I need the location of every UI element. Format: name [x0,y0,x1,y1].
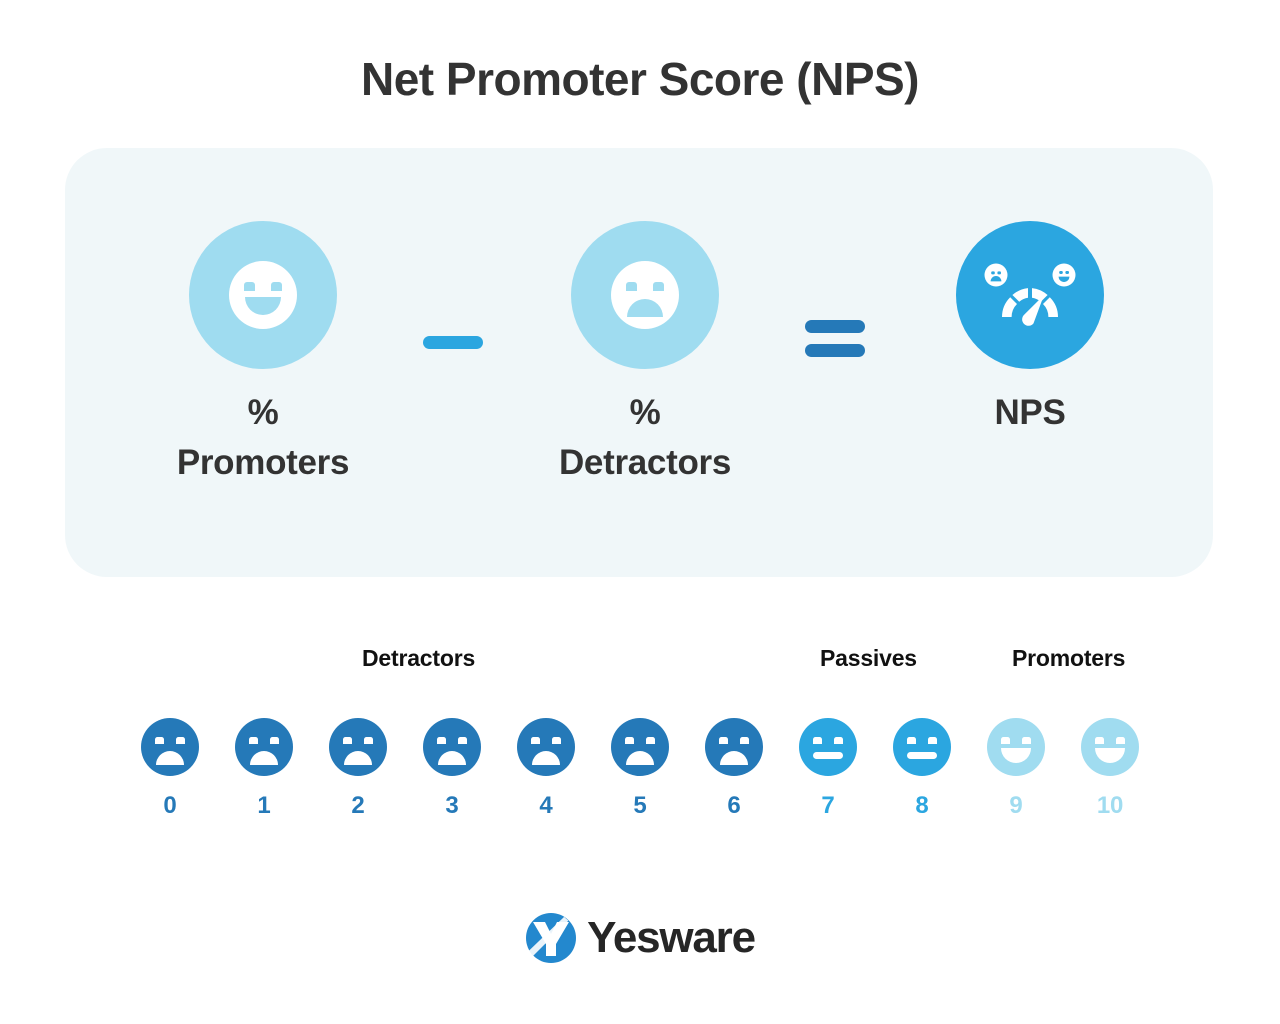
smiling-face-icon [189,221,337,369]
group-label-detractors: Detractors [362,645,475,672]
promoters-icon-wrap [113,220,413,370]
equals-bar-top [805,320,865,333]
scale-number: 9 [1009,792,1022,820]
scale-number: 0 [163,792,176,820]
eye-left [1001,737,1010,744]
face-disc [611,261,679,329]
eye-left [343,737,352,744]
smiling-face-icon [1081,718,1139,776]
eye-left [1095,737,1104,744]
scale-item[interactable]: 8 [893,718,951,820]
scale-item[interactable]: 6 [705,718,763,820]
eye-right [364,737,373,744]
smiling-face-icon [987,718,1045,776]
detractors-icon-wrap [495,220,795,370]
eye-left [626,282,637,291]
eye-right [1022,737,1031,744]
scale-items-row: 012345678910 [0,718,1280,820]
scale-number: 3 [445,792,458,820]
eye-left [244,282,255,291]
scale-item[interactable]: 4 [517,718,575,820]
eye-right [646,737,655,744]
yesware-logo: Yesware [0,912,1280,964]
eye-right [928,737,937,744]
promoters-label-line2: Promoters [177,443,349,482]
eye-right [458,737,467,744]
equals-sign-icon [805,320,865,357]
scale-item[interactable]: 3 [423,718,481,820]
scale-item[interactable]: 10 [1081,718,1139,820]
eye-left [531,737,540,744]
scale-number: 2 [351,792,364,820]
scale-item[interactable]: 5 [611,718,669,820]
mouth-smile [1095,748,1125,763]
page-title: Net Promoter Score (NPS) [0,52,1280,106]
mouth-frown [344,751,372,765]
mouth-frown [250,751,278,765]
frowning-face-icon [517,718,575,776]
scale-number: 7 [821,792,834,820]
formula-row: % Promoters [65,148,1213,577]
frowning-face-icon [571,221,719,369]
promoters-label-line1: % [248,393,279,432]
eye-left [719,737,728,744]
nps-label: NPS [880,388,1180,438]
nps-scale-section: Detractors Passives Promoters 0123456789… [0,645,1280,685]
frowning-face-icon [423,718,481,776]
infographic-page: Net Promoter Score (NPS) % Promot [0,0,1280,1024]
eye-right [653,282,664,291]
scale-number: 10 [1097,792,1123,820]
frowning-face-icon [611,718,669,776]
nps-formula-panel: % Promoters [65,148,1213,577]
face-disc [229,261,297,329]
detractors-label: % Detractors [495,388,795,487]
scale-number: 6 [727,792,740,820]
eye-left [249,737,258,744]
mouth-frown [438,751,466,765]
neutral-face-icon [799,718,857,776]
scale-group-labels: Detractors Passives Promoters [0,645,1280,685]
mouth-smile [245,297,281,315]
eye-left [813,737,822,744]
formula-term-detractors: % Detractors [495,220,795,487]
minus-bar [423,336,483,349]
scale-item[interactable]: 1 [235,718,293,820]
scale-item[interactable]: 0 [141,718,199,820]
eye-left [907,737,916,744]
yesware-y-logo-icon [525,912,577,964]
frowning-face-icon [141,718,199,776]
detractors-label-line1: % [630,393,661,432]
mouth-flat [813,752,843,759]
mouth-frown [627,299,663,317]
formula-term-promoters: % Promoters [113,220,413,487]
neutral-face-icon [893,718,951,776]
group-label-promoters: Promoters [1012,645,1125,672]
mouth-frown [720,751,748,765]
scale-item[interactable]: 9 [987,718,1045,820]
frowning-face-icon [329,718,387,776]
scale-item[interactable]: 2 [329,718,387,820]
mouth-frown [532,751,560,765]
scale-number: 8 [915,792,928,820]
nps-gauge-icon [956,221,1104,369]
yesware-wordmark: Yesware [587,913,755,963]
mouth-frown [626,751,654,765]
mouth-flat [907,752,937,759]
eye-right [740,737,749,744]
gauge-graphic [982,253,1078,337]
eye-right [270,737,279,744]
frowning-face-icon [235,718,293,776]
group-label-passives: Passives [820,645,917,672]
nps-icon-wrap [880,220,1180,370]
scale-number: 1 [257,792,270,820]
scale-number: 5 [633,792,646,820]
eye-right [176,737,185,744]
scale-item[interactable]: 7 [799,718,857,820]
mouth-frown [156,751,184,765]
mouth-smile [1001,748,1031,763]
detractors-label-line2: Detractors [559,443,731,482]
frowning-face-icon [705,718,763,776]
minus-sign-icon [423,336,483,349]
eye-left [155,737,164,744]
eye-left [625,737,634,744]
eye-left [437,737,446,744]
formula-term-nps: NPS [880,220,1180,438]
scale-number: 4 [539,792,552,820]
eye-right [834,737,843,744]
promoters-label: % Promoters [113,388,413,487]
eye-right [271,282,282,291]
eye-right [1116,737,1125,744]
eye-right [552,737,561,744]
equals-bar-bottom [805,344,865,357]
